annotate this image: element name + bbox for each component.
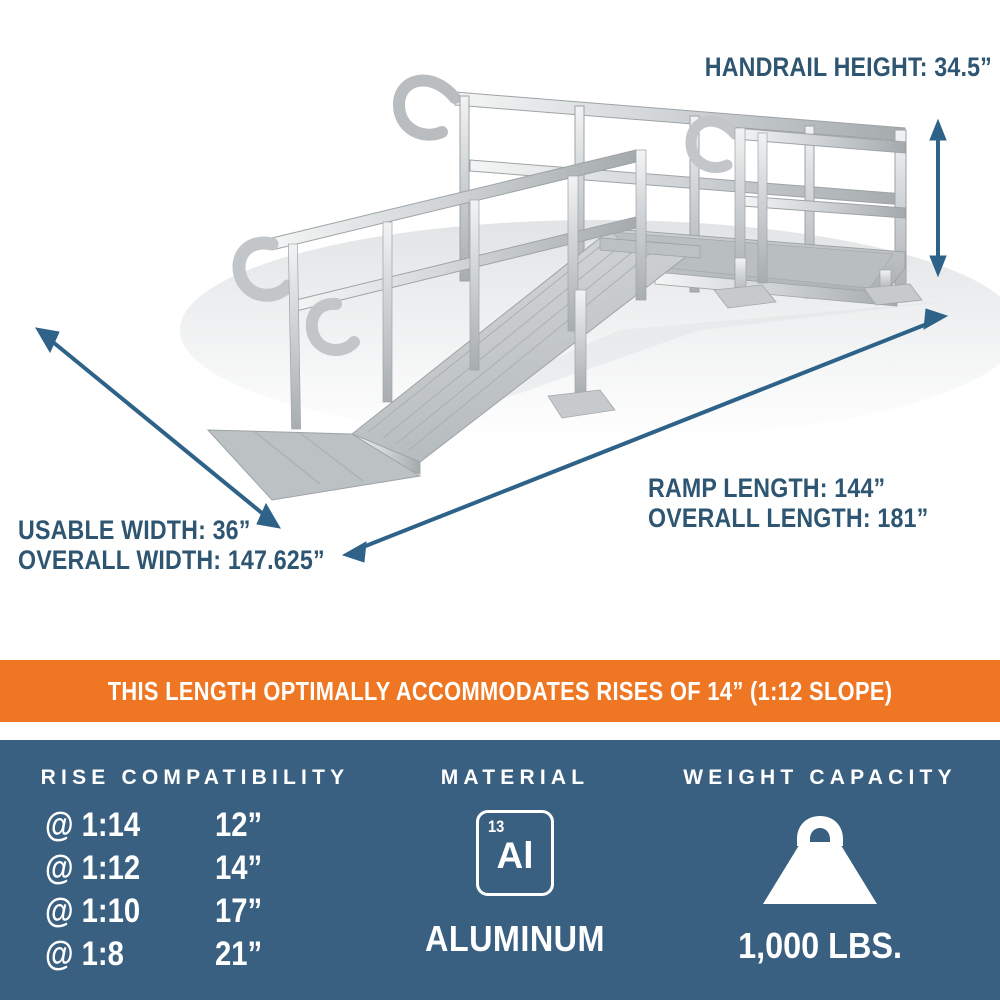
table-row: @ 1:12 14” bbox=[45, 849, 345, 888]
rise-slope: @ 1:10 bbox=[45, 892, 191, 931]
rise-value: 12” bbox=[215, 806, 262, 845]
banner-text: THIS LENGTH OPTIMALLY ACCOMMODATES RISES… bbox=[108, 676, 893, 707]
periodic-element-tile-icon: 13 Al bbox=[476, 810, 554, 896]
width-labels: USABLE WIDTH: 36” OVERALL WIDTH: 147.625… bbox=[18, 515, 325, 575]
material-title: MATERIAL bbox=[441, 766, 590, 790]
table-row: @ 1:14 12” bbox=[45, 806, 345, 845]
element-symbol: Al bbox=[479, 837, 551, 874]
rise-slope: @ 1:8 bbox=[45, 935, 191, 974]
overall-width-text: OVERALL WIDTH: 147.625” bbox=[18, 545, 325, 575]
rise-slope: @ 1:12 bbox=[45, 849, 191, 888]
ramp-length-text: RAMP LENGTH: 144” bbox=[648, 473, 928, 503]
rise-accommodation-banner: THIS LENGTH OPTIMALLY ACCOMMODATES RISES… bbox=[0, 660, 1000, 722]
rise-compatibility-column: RISE COMPATIBILITY @ 1:14 12” @ 1:12 14”… bbox=[0, 740, 390, 1000]
rise-slope: @ 1:14 bbox=[45, 806, 191, 845]
table-row: @ 1:8 21” bbox=[45, 935, 345, 974]
handrail-height-text: HANDRAIL HEIGHT: 34.5” bbox=[705, 52, 992, 82]
usable-width-text: USABLE WIDTH: 36” bbox=[18, 515, 325, 545]
weight-capacity-title: WEIGHT CAPACITY bbox=[683, 766, 957, 790]
material-column: MATERIAL 13 Al ALUMINUM bbox=[390, 740, 640, 1000]
specs-panel: RISE COMPATIBILITY @ 1:14 12” @ 1:12 14”… bbox=[0, 740, 1000, 1000]
length-labels: RAMP LENGTH: 144” OVERALL LENGTH: 181” bbox=[648, 473, 928, 533]
rise-compatibility-title: RISE COMPATIBILITY bbox=[41, 766, 350, 790]
rise-value: 21” bbox=[215, 935, 262, 974]
table-row: @ 1:10 17” bbox=[45, 892, 345, 931]
material-name: ALUMINUM bbox=[425, 918, 605, 960]
handrail-height-label: HANDRAIL HEIGHT: 34.5” bbox=[705, 52, 992, 82]
rise-compatibility-table: @ 1:14 12” @ 1:12 14” @ 1:10 17” @ 1:8 2… bbox=[45, 806, 345, 978]
handrail-height-arrow bbox=[930, 120, 946, 276]
infographic-page: HANDRAIL HEIGHT: 34.5” RAMP LENGTH: 144”… bbox=[0, 0, 1000, 1000]
product-diagram-area: HANDRAIL HEIGHT: 34.5” RAMP LENGTH: 144”… bbox=[0, 0, 1000, 660]
weight-capacity-column: WEIGHT CAPACITY 1,000 LBS. bbox=[640, 740, 1000, 1000]
weight-capacity-value: 1,000 LBS. bbox=[738, 925, 902, 967]
rise-value: 14” bbox=[215, 849, 262, 888]
weight-icon bbox=[757, 812, 883, 913]
element-number: 13 bbox=[488, 817, 504, 837]
overall-length-text: OVERALL LENGTH: 181” bbox=[648, 503, 928, 533]
rise-value: 17” bbox=[215, 892, 262, 931]
